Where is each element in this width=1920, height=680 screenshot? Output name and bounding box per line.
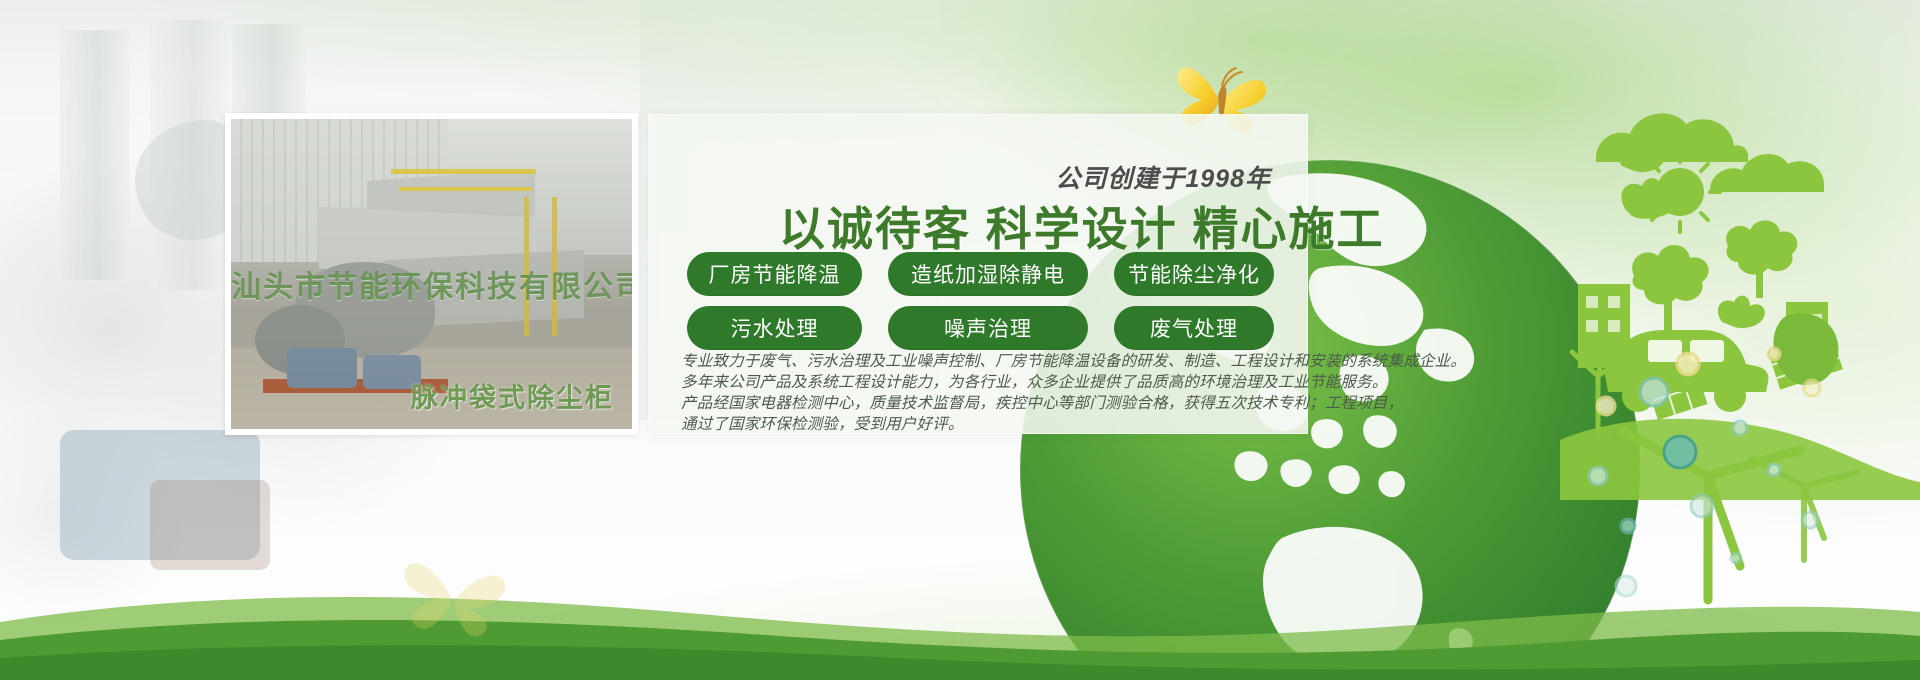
wave-shape-group — [0, 490, 1920, 680]
page-title: 以诚待客 科学设计 精心施工 — [779, 193, 1385, 259]
description-line: 专业致力于废气、污水治理及工业噪声控制、厂房节能降温设备的研发、制造、工程设计和… — [681, 351, 1303, 372]
service-tag-noise-control[interactable]: 噪声治理 — [888, 306, 1088, 350]
photo-caption: 脉冲袋式除尘柜 — [411, 376, 614, 415]
service-tag-row: 厂房节能降温 造纸加湿除静电 节能除尘净化 — [687, 252, 1287, 296]
description-line: 通过了国家环保检测验，受到用户好评。 — [681, 414, 1303, 435]
service-tag-paper-humidify-antistatic[interactable]: 造纸加湿除静电 — [888, 252, 1088, 296]
promotional-banner: 汕头市节能环保科技有限公司 脉冲袋式除尘柜 公司创建于1998年 以诚待客 科学… — [0, 0, 1920, 680]
company-description: 专业致力于废气、污水治理及工业噪声控制、厂房节能降温设备的研发、制造、工程设计和… — [681, 351, 1303, 435]
service-tag-row: 污水处理 噪声治理 废气处理 — [687, 306, 1287, 350]
content-panel: 公司创建于1998年 以诚待客 科学设计 精心施工 厂房节能降温 造纸加湿除静电… — [648, 114, 1308, 434]
background-silo-shape — [60, 30, 130, 280]
description-line: 产品经国家电器检测中心，质量技术监督局，疾控中心等部门测验合格，获得五次技术专利… — [681, 393, 1303, 414]
service-tag-exhaust-gas-treatment[interactable]: 废气处理 — [1114, 306, 1274, 350]
service-tag-factory-cooling[interactable]: 厂房节能降温 — [687, 252, 862, 296]
product-photo-card: 汕头市节能环保科技有限公司 脉冲袋式除尘柜 — [225, 113, 638, 435]
description-line: 多年来公司产品及系统工程设计能力，为各行业，众多企业提供了品质高的环境治理及工业… — [681, 372, 1303, 393]
service-tag-sewage-treatment[interactable]: 污水处理 — [687, 306, 862, 350]
established-label: 公司创建于1998年 — [1055, 159, 1271, 195]
photo-watermark: 汕头市节能环保科技有限公司 — [231, 262, 632, 306]
service-tag-energy-saving-dust-purification[interactable]: 节能除尘净化 — [1114, 252, 1274, 296]
service-tag-list: 厂房节能降温 造纸加湿除静电 节能除尘净化 污水处理 噪声治理 废气处理 — [687, 252, 1287, 360]
product-photo: 汕头市节能环保科技有限公司 脉冲袋式除尘柜 — [231, 119, 632, 429]
butterfly-icon — [395, 545, 515, 655]
